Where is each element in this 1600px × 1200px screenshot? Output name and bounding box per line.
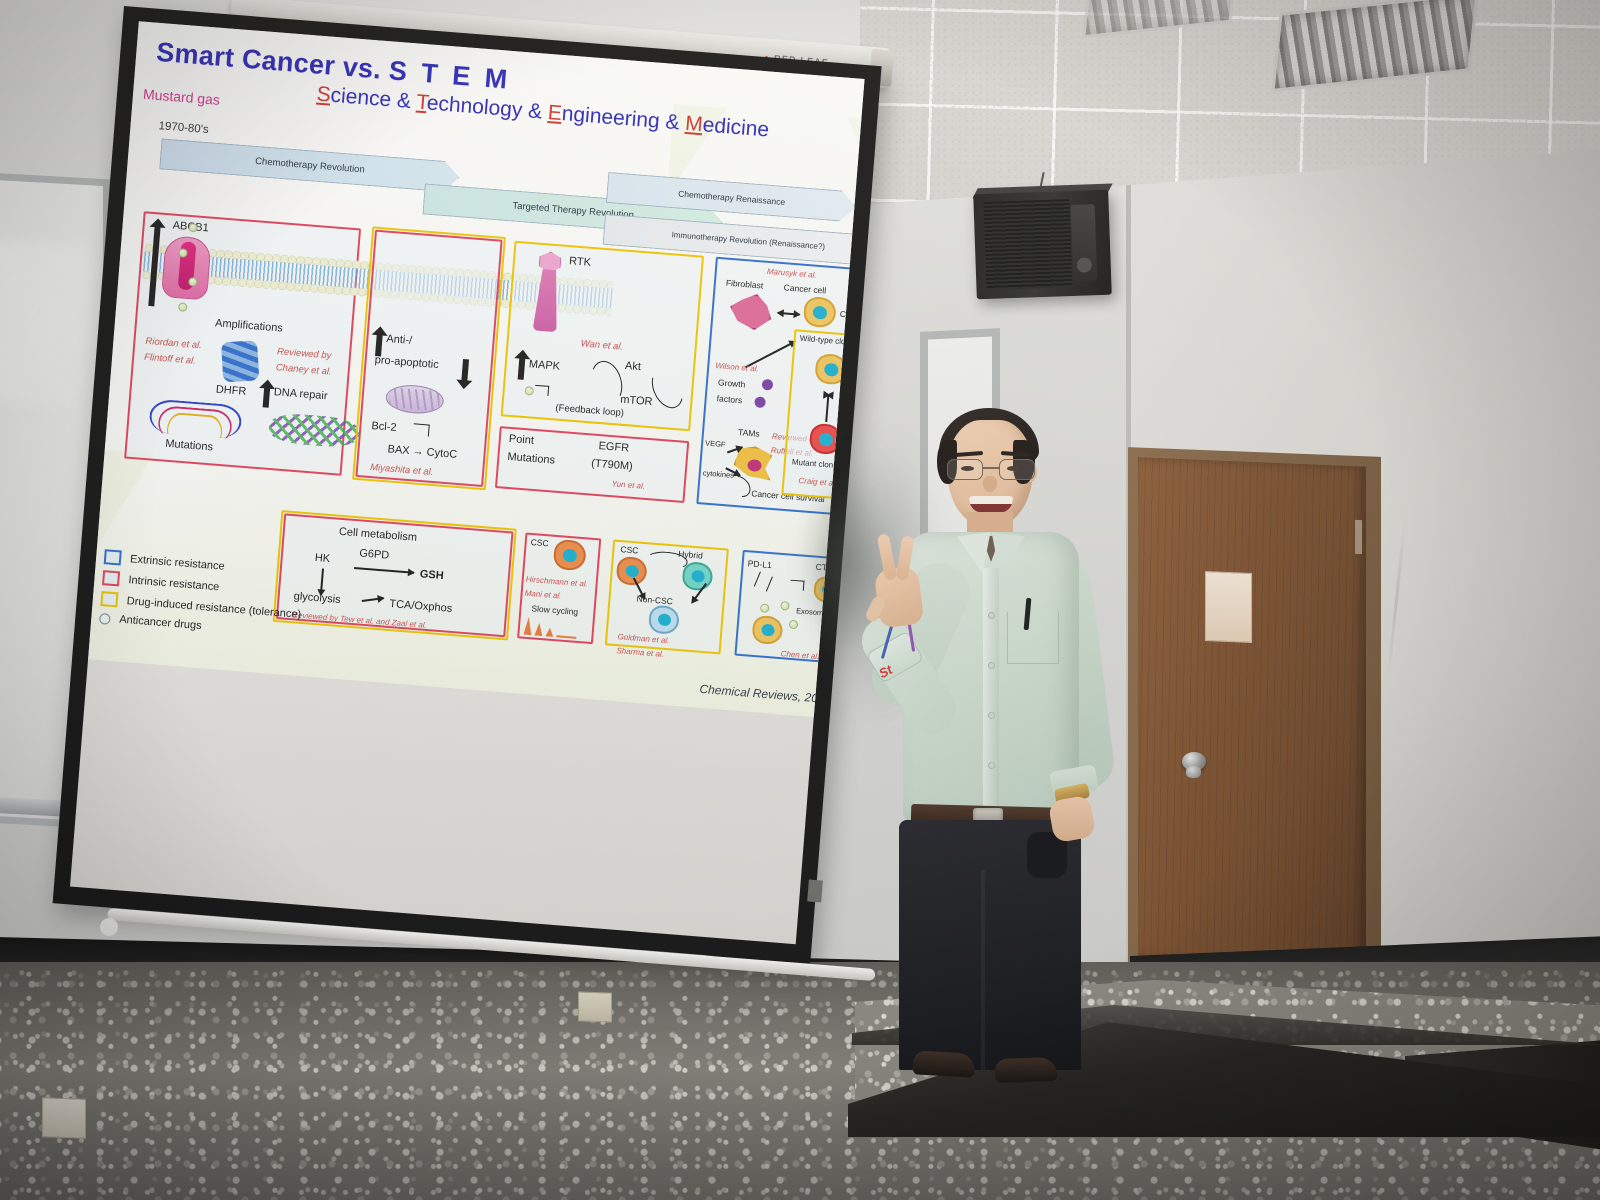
pdl1-label: PD-L1 [747, 558, 772, 570]
screen-wall-bracket [807, 879, 823, 902]
egfr-label: EGFR [598, 440, 629, 454]
bcl2-inhibition-icon [413, 423, 430, 436]
shirt-button [988, 762, 995, 769]
tams-label: TAMs [738, 427, 760, 439]
factors-label: factors [716, 393, 742, 405]
dhfr-protein-icon [221, 340, 259, 382]
legend-swatch-intrinsic [102, 570, 120, 586]
akt-label: Akt [625, 360, 642, 373]
growth-label: Growth [718, 377, 746, 389]
rtk-label: RTK [569, 255, 592, 269]
shirt-placket [983, 568, 999, 808]
door-window-panel [1205, 571, 1252, 643]
gsh-label: GSH [419, 568, 444, 582]
presenter: St [855, 400, 1135, 1100]
legend-swatch-tolerance [100, 591, 118, 607]
dhfr-label: DHFR [215, 384, 246, 398]
whiteboard-glare [0, 240, 90, 406]
csc-label: CSC [620, 544, 639, 555]
slide-legend: Extrinsic resistance Intrinsic resistanc… [98, 549, 305, 646]
mouth-smiling [969, 496, 1013, 513]
legend-swatch-anticancer-drugs [99, 612, 111, 624]
legend-swatch-extrinsic [104, 549, 122, 565]
dna-helix-icon [148, 398, 242, 439]
timeline-year-1970s: 1970-80's [158, 120, 209, 136]
wall-speaker [973, 190, 1112, 300]
mapk-label: MAPK [528, 358, 560, 372]
lecture-room-scene: ● RED LEAF Smart Cancer vs. S T E M Scie… [0, 0, 1600, 1200]
presentation-slide: Smart Cancer vs. S T E M Science & Techn… [88, 21, 864, 719]
shirt-button [988, 662, 995, 669]
speaker-driver [1071, 204, 1098, 281]
legend-label-drugs: Anticancer drugs [119, 614, 202, 633]
trouser-leg-split [981, 870, 985, 1070]
hk-label: HK [314, 552, 330, 565]
abcb1-transporter-icon [161, 235, 212, 300]
anti-label: Anti-/ [386, 333, 413, 347]
lens-left [947, 459, 983, 480]
room-door[interactable] [1138, 457, 1366, 967]
projection-screen: Smart Cancer vs. S T E M Science & Techn… [53, 6, 882, 963]
door-hinge [1355, 520, 1362, 554]
nose [983, 476, 997, 492]
timeline-arrow-chemotherapy-revolution: Chemotherapy Revolution [159, 138, 461, 193]
mtor-label: mTOR [620, 394, 653, 409]
point-label: Point [508, 433, 534, 447]
lens-right [999, 459, 1035, 480]
screen-surface: Smart Cancer vs. S T E M Science & Techn… [70, 21, 865, 944]
shoe-left [912, 1050, 975, 1077]
cafs-label: CAFs [839, 309, 861, 321]
vegf-label: VEGF [705, 438, 726, 449]
shoe-right [995, 1057, 1058, 1083]
legend-label-intrinsic: Intrinsic resistance [128, 574, 220, 593]
speaker-grill [983, 199, 1072, 290]
g6pd-label: G6PD [359, 547, 390, 561]
resistance-panels: ABCB1 Amplifications Riordan et al. Flin… [115, 211, 865, 558]
right-hand-in-pocket [1048, 795, 1097, 844]
shirt-button [988, 612, 995, 619]
shirt-button [988, 712, 995, 719]
slow-cycling-peaks-icon [523, 615, 577, 639]
wall-blank-plate [578, 991, 612, 1022]
drug-inhibition-icon [534, 385, 549, 396]
wall-power-outlet[interactable] [42, 1097, 86, 1139]
shirt-pocket [1007, 612, 1059, 664]
wildtype-clone-icon [814, 353, 848, 385]
csc-label-slow: CSC [530, 537, 549, 548]
glasses-bridge [983, 467, 999, 469]
door-wood-grain [1138, 457, 1366, 967]
bcl2-label: Bcl-2 [371, 420, 397, 434]
door-knob[interactable] [1182, 752, 1206, 771]
